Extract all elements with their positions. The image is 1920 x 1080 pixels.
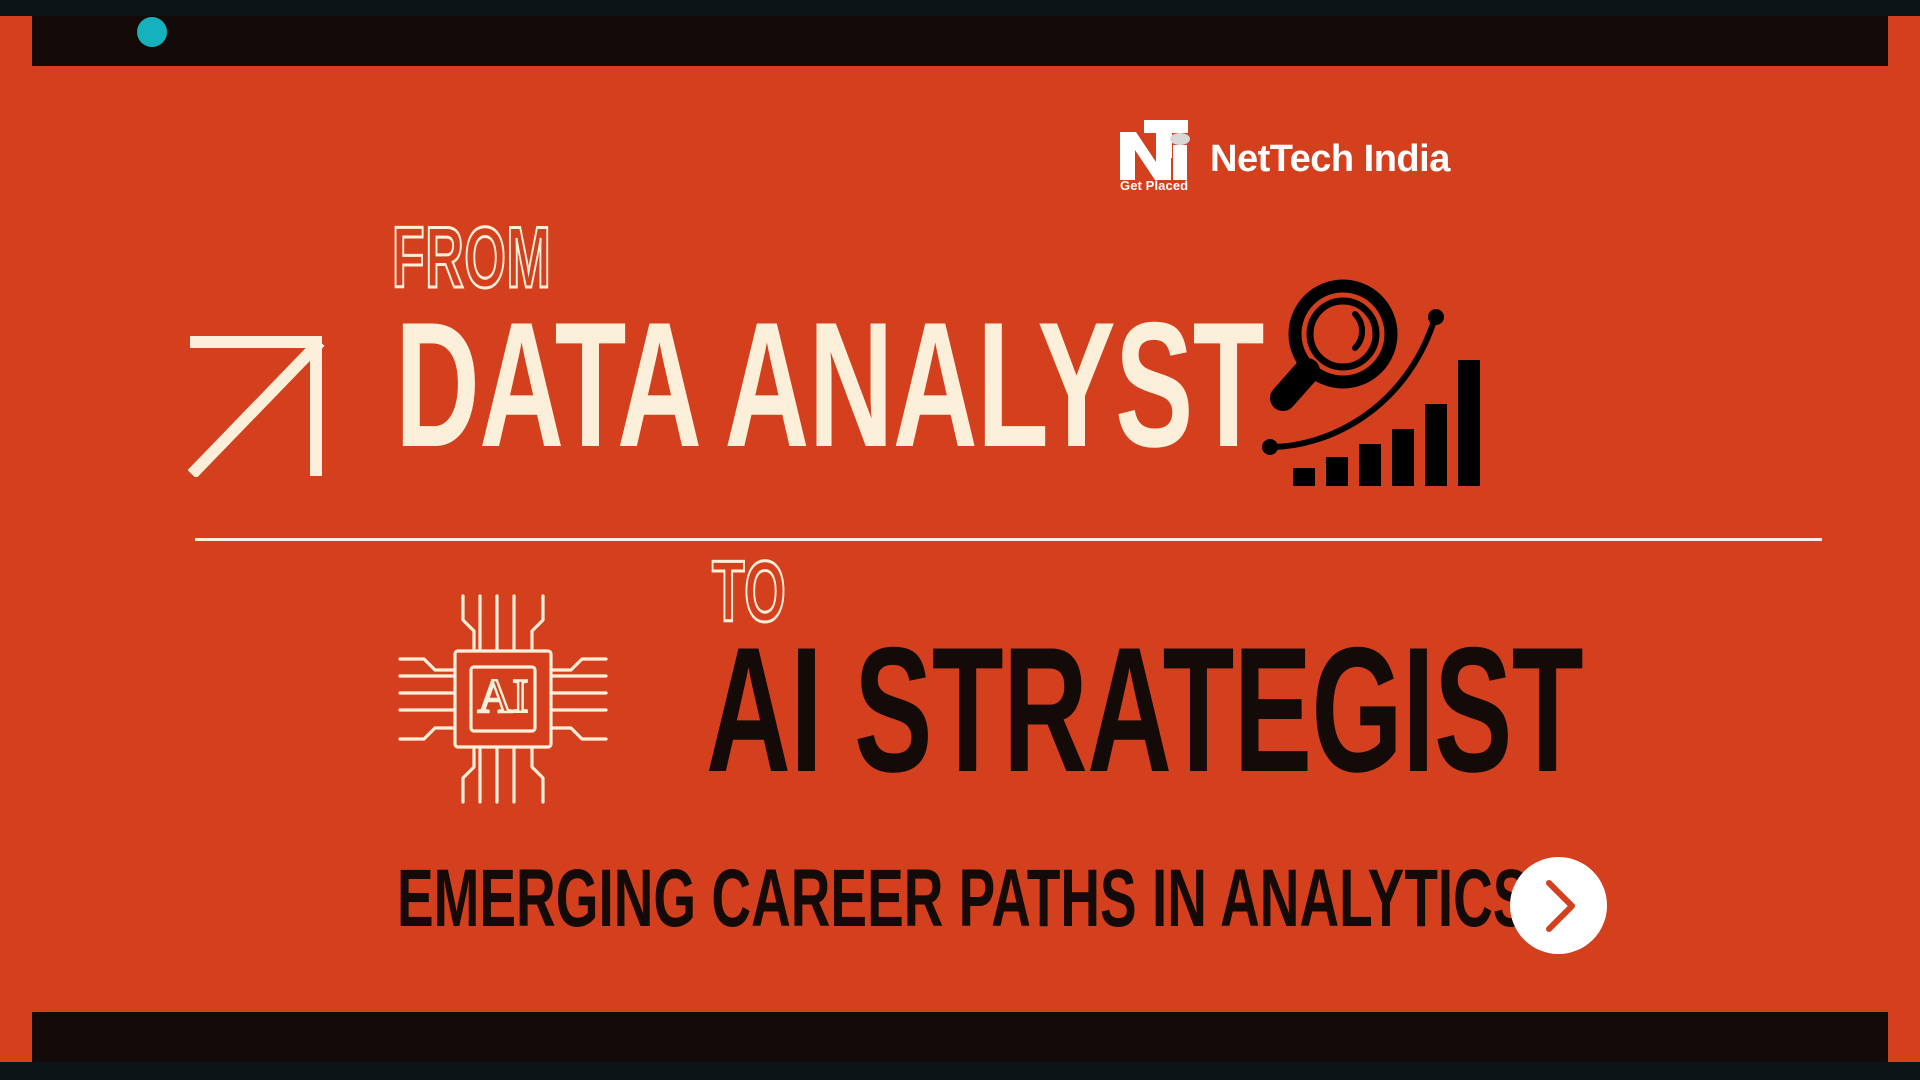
title-ai-strategist: AI STRATEGIST [706, 637, 1583, 783]
magnifier-bar-chart-icon [1255, 272, 1487, 494]
window-bottom-strip [0, 1062, 1920, 1080]
ai-microchip-icon: AI [392, 588, 614, 810]
chevron-right-icon [1536, 877, 1582, 935]
presentation-slide: Get Placed NetTech India FROM DATA ANALY… [0, 0, 1920, 1080]
slide-bottom-chrome-bar [32, 1012, 1888, 1062]
section-divider [195, 538, 1822, 541]
next-slide-button[interactable] [1510, 857, 1607, 954]
slide-subtitle: EMERGING CAREER PATHS IN ANALYTICS [397, 862, 1529, 936]
brand-tagline: Get Placed [1120, 179, 1188, 192]
nti-monogram-icon: Get Placed [1118, 118, 1196, 190]
slide-top-chrome-bar [32, 16, 1888, 66]
title-data-analyst: DATA ANALYST [395, 312, 1264, 458]
arrow-up-right-icon [188, 322, 328, 477]
brand-logo: Get Placed NetTech India [1118, 118, 1450, 190]
status-dot-icon [137, 17, 167, 47]
brand-wordmark: NetTech India [1210, 140, 1450, 190]
chip-label: AI [478, 670, 529, 723]
window-top-strip [0, 0, 1920, 16]
